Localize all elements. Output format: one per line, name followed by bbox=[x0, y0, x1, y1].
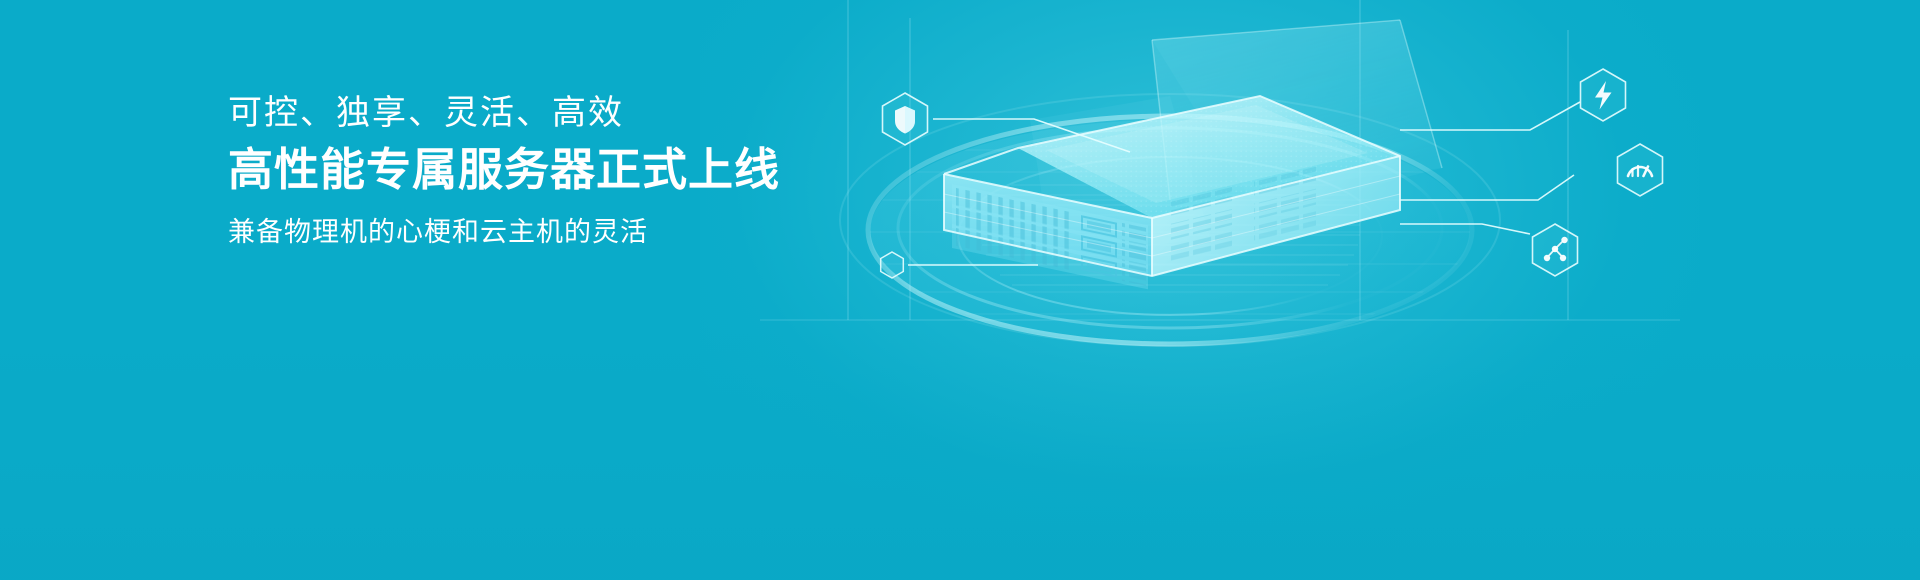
speedometer-icon bbox=[1618, 144, 1663, 196]
banner-copy: 可控、独享、灵活、高效 高性能专属服务器正式上线 兼备物理机的心梗和云主机的灵活 bbox=[228, 88, 780, 256]
promo-banner: 可控、独享、灵活、高效 高性能专属服务器正式上线 兼备物理机的心梗和云主机的灵活 bbox=[0, 0, 1920, 580]
banner-eyebrow: 可控、独享、灵活、高效 bbox=[228, 88, 780, 138]
network-share-icon bbox=[1533, 224, 1578, 276]
server-illustration bbox=[700, 0, 1720, 420]
banner-subcopy: 兼备物理机的心梗和云主机的灵活 bbox=[228, 208, 780, 256]
banner-headline: 高性能专属服务器正式上线 bbox=[228, 138, 780, 202]
hexagon-node-icon bbox=[881, 252, 904, 278]
lightning-bolt-icon bbox=[1581, 69, 1626, 121]
